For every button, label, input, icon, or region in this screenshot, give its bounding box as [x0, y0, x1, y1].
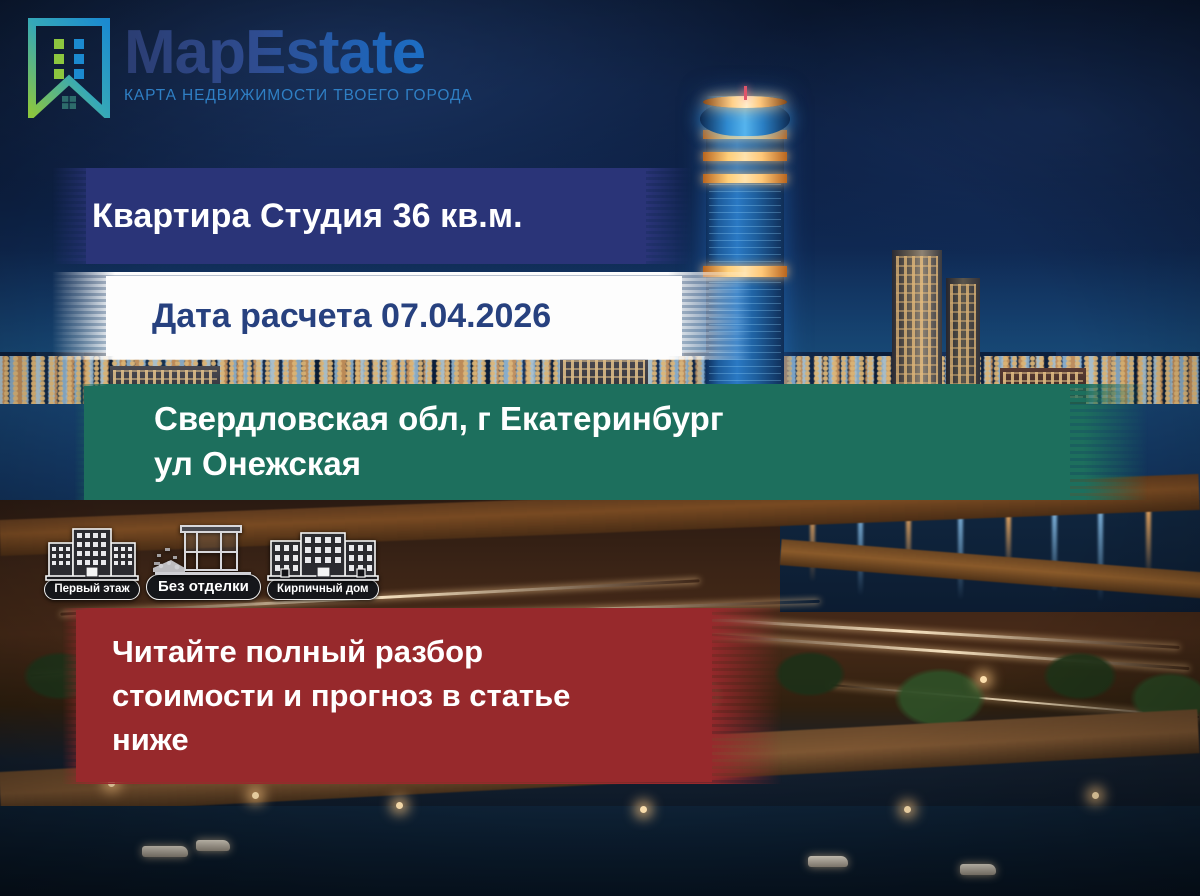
cta-banner: Читайте полный разбор стоимости и прогно… [62, 608, 782, 784]
address-line-street: ул Онежская [154, 442, 724, 487]
poster-canvas: MapEstate КАРТА НЕДВИЖИМОСТИ ТВОЕГО ГОРО… [0, 0, 1200, 896]
bare-shell-room-icon [151, 518, 255, 580]
calculation-date-banner: Дата расчета 07.04.2026 [52, 272, 752, 360]
bookmark-building-icon [28, 18, 110, 118]
apartment-building-icon [44, 523, 140, 585]
brand-logo[interactable]: MapEstate КАРТА НЕДВИЖИМОСТИ ТВОЕГО ГОРО… [28, 18, 473, 118]
calculation-date-text: Дата расчета 07.04.2026 [52, 297, 551, 336]
property-title-text: Квартира Студия 36 кв.м. [52, 197, 523, 236]
address-text: Свердловская обл, г Екатеринбург ул Онеж… [74, 397, 724, 486]
feature-badges: Первый этаж [44, 518, 379, 600]
address-line-region: Свердловская обл, г Екатеринбург [154, 397, 724, 442]
cta-text: Читайте полный разбор стоимости и прогно… [62, 630, 622, 762]
badge-first-floor[interactable]: Первый этаж [44, 523, 140, 600]
brand-tagline: КАРТА НЕДВИЖИМОСТИ ТВОЕГО ГОРОДА [124, 87, 473, 105]
property-title-banner: Квартира Студия 36 кв.м. [52, 168, 692, 264]
badge-no-finish[interactable]: Без отделки [146, 518, 261, 600]
brand-wordmark: MapEstate [124, 24, 473, 83]
badge-brick-house[interactable]: Кирпичный дом [267, 523, 379, 600]
brick-building-icon [267, 523, 379, 585]
address-banner: Свердловская обл, г Екатеринбург ул Онеж… [74, 384, 1148, 500]
